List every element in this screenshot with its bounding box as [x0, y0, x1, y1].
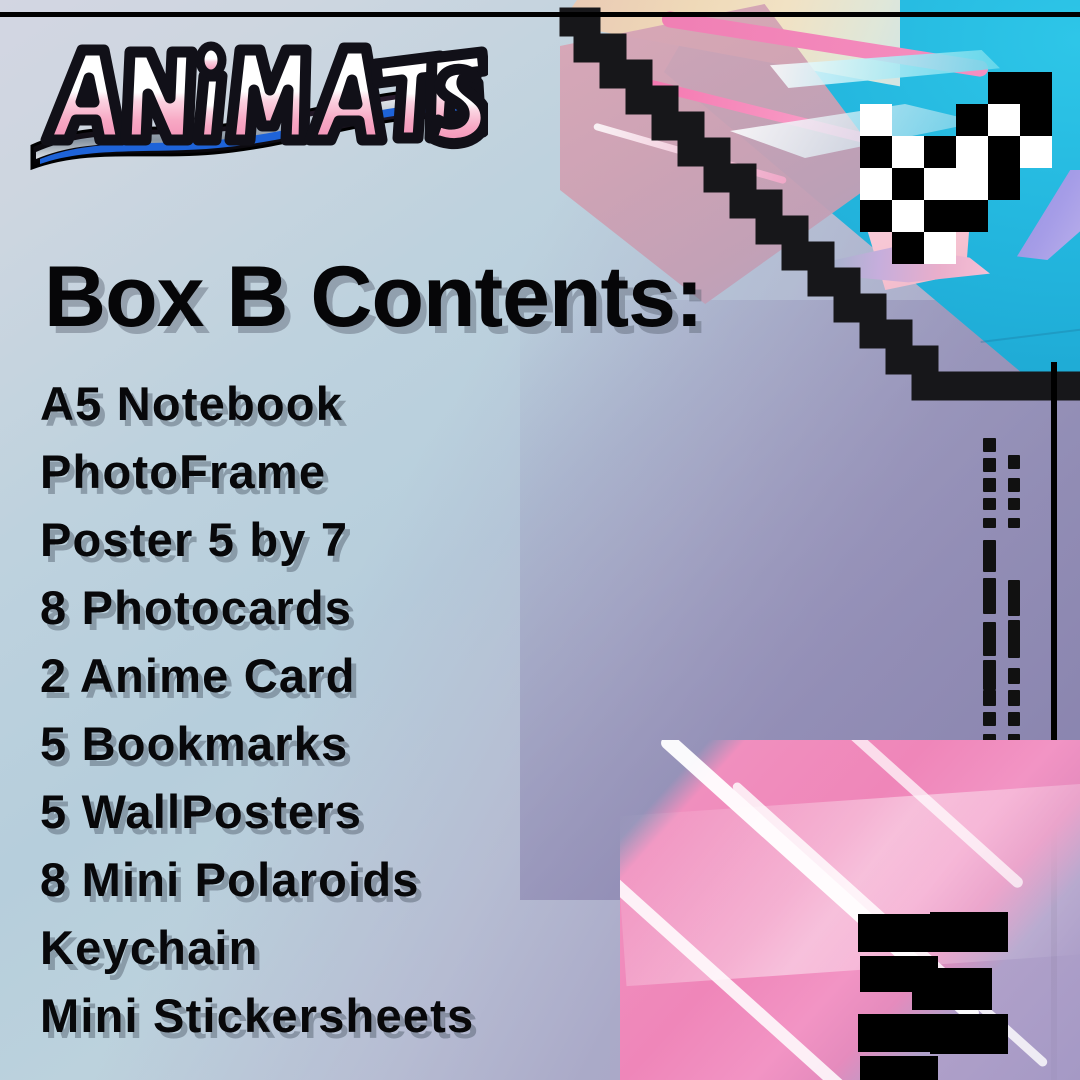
- tick-mark: [983, 540, 996, 572]
- checker-cell: [1020, 104, 1052, 136]
- list-item: 8 Photocards: [40, 574, 740, 642]
- logo-i-dot: [200, 46, 222, 74]
- tick-mark: [983, 712, 996, 726]
- checker-cell: [924, 136, 956, 168]
- tick-mark: [983, 690, 996, 706]
- checker-cell: [1020, 136, 1052, 168]
- checker-cell: [956, 136, 988, 168]
- tick-mark: [983, 660, 996, 690]
- pixel-block: [860, 1056, 938, 1080]
- list-item: Poster 5 by 7: [40, 506, 740, 574]
- logo-wordmark: [46, 46, 486, 144]
- tick-mark: [1008, 668, 1020, 684]
- tick-mark: [983, 478, 996, 492]
- list-item: PhotoFrame: [40, 438, 740, 506]
- animates-logo: [18, 28, 488, 178]
- page-title: Box B Contents:: [44, 248, 703, 347]
- tick-mark: [1008, 455, 1020, 469]
- pixel-block: [930, 912, 1008, 952]
- tick-mark: [983, 438, 996, 452]
- tick-mark: [983, 498, 996, 510]
- list-item: Keychain: [40, 914, 740, 982]
- checker-cell: [892, 232, 924, 264]
- pixel-block: [912, 968, 992, 1010]
- checker-cell: [988, 168, 1020, 200]
- checker-cell: [860, 200, 892, 232]
- checker-cell: [892, 136, 924, 168]
- list-item: 5 Bookmarks: [40, 710, 740, 778]
- tick-mark: [1008, 518, 1020, 528]
- tick-mark: [1008, 580, 1020, 616]
- checker-cell: [956, 168, 988, 200]
- list-item: 5 WallPosters: [40, 778, 740, 846]
- pixel-block: [930, 1014, 1008, 1054]
- checker-cell: [860, 104, 892, 136]
- pixel-block: [858, 914, 938, 952]
- tick-mark: [983, 458, 996, 472]
- tick-mark: [983, 578, 996, 614]
- checker-cell: [924, 168, 956, 200]
- tick-mark: [1008, 498, 1020, 510]
- list-item: 8 Mini Polaroids: [40, 846, 740, 914]
- checker-cell: [988, 72, 1020, 104]
- checker-cell: [860, 168, 892, 200]
- checker-cell: [956, 104, 988, 136]
- checker-cell: [924, 232, 956, 264]
- tick-mark: [1008, 712, 1020, 726]
- checker-cell: [924, 200, 956, 232]
- checker-cell: [956, 200, 988, 232]
- tick-mark: [1008, 478, 1020, 492]
- checker-cell: [988, 104, 1020, 136]
- checker-cell: [892, 168, 924, 200]
- contents-list: A5 NotebookPhotoFramePoster 5 by 78 Phot…: [40, 370, 740, 1050]
- checker-cell: [988, 136, 1020, 168]
- tick-mark: [1008, 690, 1020, 706]
- tick-mark: [983, 518, 996, 528]
- tick-mark: [1008, 620, 1020, 658]
- list-item: A5 Notebook: [40, 370, 740, 438]
- poster-canvas: Box B Contents: A5 NotebookPhotoFramePos…: [0, 0, 1080, 1080]
- checker-cell: [1020, 72, 1052, 104]
- list-item: 2 Anime Card: [40, 642, 740, 710]
- pixel-block: [858, 1014, 938, 1052]
- tick-mark: [983, 622, 996, 656]
- checker-cell: [860, 136, 892, 168]
- top-rule: [0, 12, 1080, 17]
- checker-cell: [892, 200, 924, 232]
- list-item: Mini Stickersheets: [40, 982, 740, 1050]
